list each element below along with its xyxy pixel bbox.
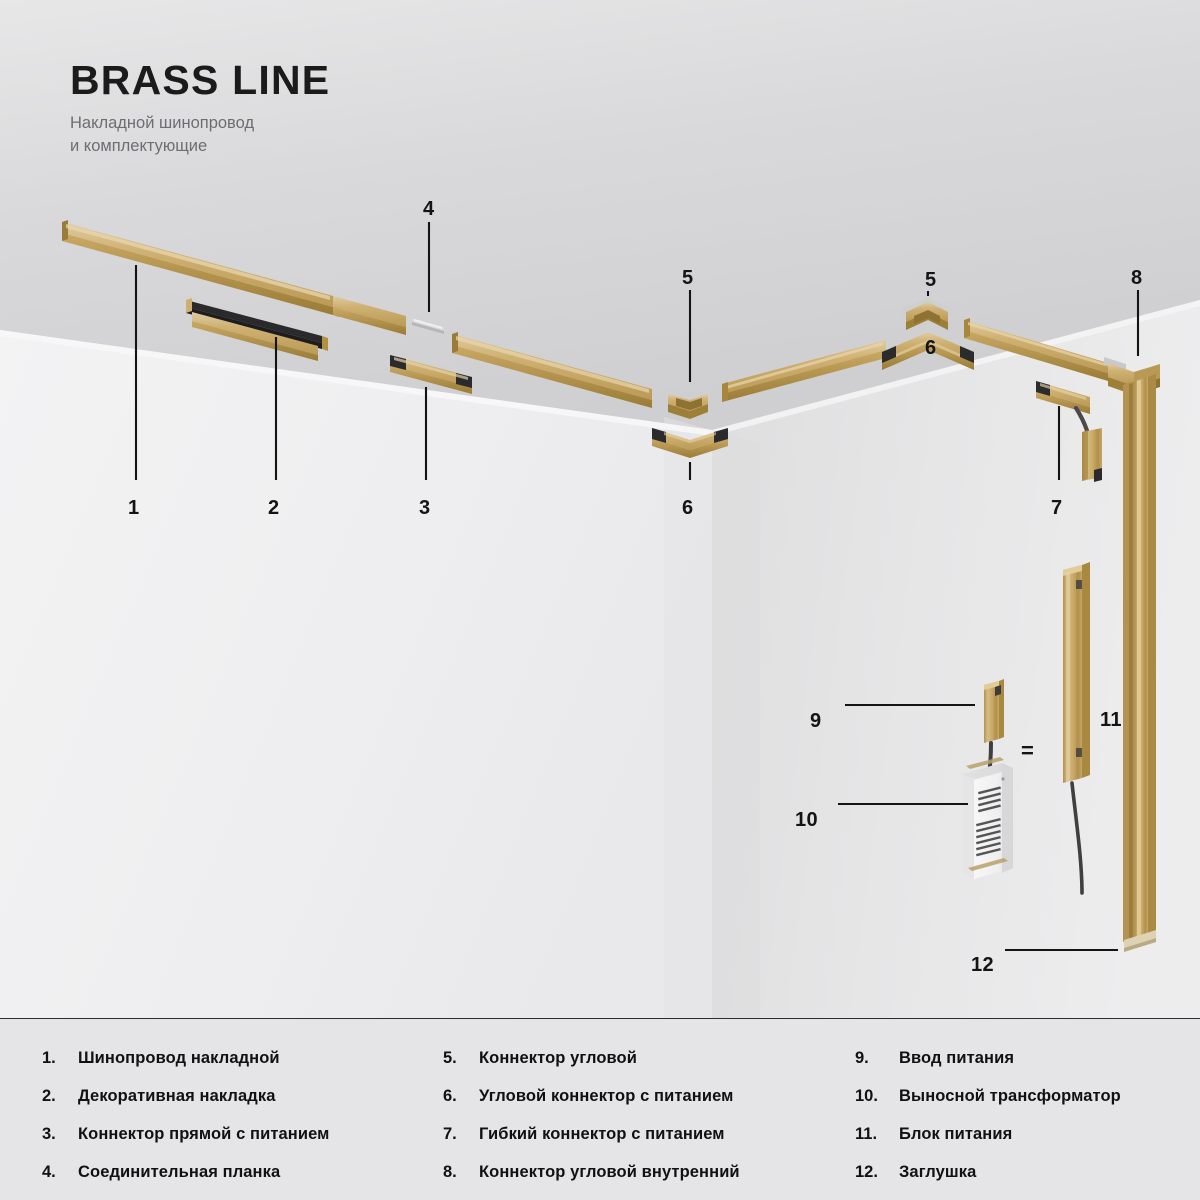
legend-label: Коннектор прямой с питанием	[78, 1125, 329, 1144]
legend-number: 12.	[855, 1163, 899, 1182]
vertical-track-rail	[1123, 374, 1156, 942]
legend-number: 4.	[42, 1163, 78, 1182]
subtitle-line-2: и комплектующие	[70, 135, 330, 158]
power-input	[984, 679, 1004, 743]
callout-12: 12	[971, 955, 994, 975]
legend-label: Угловой коннектор с питанием	[479, 1087, 733, 1106]
legend-column-2: 5. Коннектор угловой 6. Угловой коннекто…	[443, 1049, 853, 1200]
legend-label: Шинопровод накладной	[78, 1049, 280, 1068]
callout-5b: 5	[925, 270, 937, 290]
legend-number: 1.	[42, 1049, 78, 1068]
legend-label: Блок питания	[899, 1125, 1012, 1144]
legend-label: Коннектор угловой	[479, 1049, 637, 1068]
legend-item: 1. Шинопровод накладной	[42, 1049, 442, 1077]
legend-item: 3. Коннектор прямой с питанием	[42, 1125, 442, 1153]
legend-label: Ввод питания	[899, 1049, 1014, 1068]
legend-number: 5.	[443, 1049, 479, 1068]
legend-item: 7. Гибкий коннектор с питанием	[443, 1125, 853, 1153]
legend-column-3: 9. Ввод питания 10. Выносной трансформат…	[855, 1049, 1185, 1200]
legend-number: 10.	[855, 1087, 899, 1106]
legend-item: 6. Угловой коннектор с питанием	[443, 1087, 853, 1115]
equals-sign: =	[1021, 741, 1034, 761]
legend-column-1: 1. Шинопровод накладной 2. Декоративная …	[42, 1049, 442, 1200]
legend-item: 9. Ввод питания	[855, 1049, 1185, 1077]
legend-item: 12. Заглушка	[855, 1163, 1185, 1191]
legend-item: 8. Коннектор угловой внутренний	[443, 1163, 853, 1191]
legend-item: 4. Соединительная планка	[42, 1163, 442, 1191]
legend-label: Декоративная накладка	[78, 1087, 276, 1106]
legend-item: 10. Выносной трансформатор	[855, 1087, 1185, 1115]
page-subtitle: Накладной шинопровод и комплектующие	[70, 112, 330, 158]
callout-6b: 6	[925, 338, 937, 358]
callout-7: 7	[1051, 498, 1063, 518]
callout-11: 11	[1100, 710, 1122, 730]
page-title: BRASS LINE	[70, 58, 330, 102]
legend-label: Выносной трансформатор	[899, 1087, 1121, 1106]
legend-label: Коннектор угловой внутренний	[479, 1163, 740, 1182]
legend-number: 7.	[443, 1125, 479, 1144]
callout-8: 8	[1131, 268, 1143, 288]
legend-item: 5. Коннектор угловой	[443, 1049, 853, 1077]
legend-number: 9.	[855, 1049, 899, 1068]
product-diagram-page: BRASS LINE Накладной шинопровод и компле…	[0, 0, 1200, 1200]
callout-2: 2	[268, 498, 280, 518]
callout-4: 4	[423, 199, 435, 219]
header-block: BRASS LINE Накладной шинопровод и компле…	[70, 58, 330, 158]
legend-number: 6.	[443, 1087, 479, 1106]
legend-number: 8.	[443, 1163, 479, 1182]
legend-item: 2. Декоративная накладка	[42, 1087, 442, 1115]
callout-5a: 5	[682, 268, 694, 288]
legend-number: 2.	[42, 1087, 78, 1106]
callout-3: 3	[419, 498, 431, 518]
legend-footer: 1. Шинопровод накладной 2. Декоративная …	[0, 1018, 1200, 1200]
callout-6a: 6	[682, 498, 694, 518]
callout-10: 10	[795, 810, 818, 830]
legend-label: Гибкий коннектор с питанием	[479, 1125, 725, 1144]
legend-item: 11. Блок питания	[855, 1125, 1185, 1153]
callout-1: 1	[128, 498, 140, 518]
flexible-power-connector-wall	[1082, 428, 1102, 482]
legend-number: 3.	[42, 1125, 78, 1144]
power-supply-block	[1063, 562, 1090, 783]
subtitle-line-1: Накладной шинопровод	[70, 112, 330, 135]
legend-label: Соединительная планка	[78, 1163, 280, 1182]
remote-transformer	[962, 757, 1013, 879]
callout-9: 9	[810, 711, 822, 731]
legend-label: Заглушка	[899, 1163, 976, 1182]
legend-number: 11.	[855, 1125, 899, 1144]
